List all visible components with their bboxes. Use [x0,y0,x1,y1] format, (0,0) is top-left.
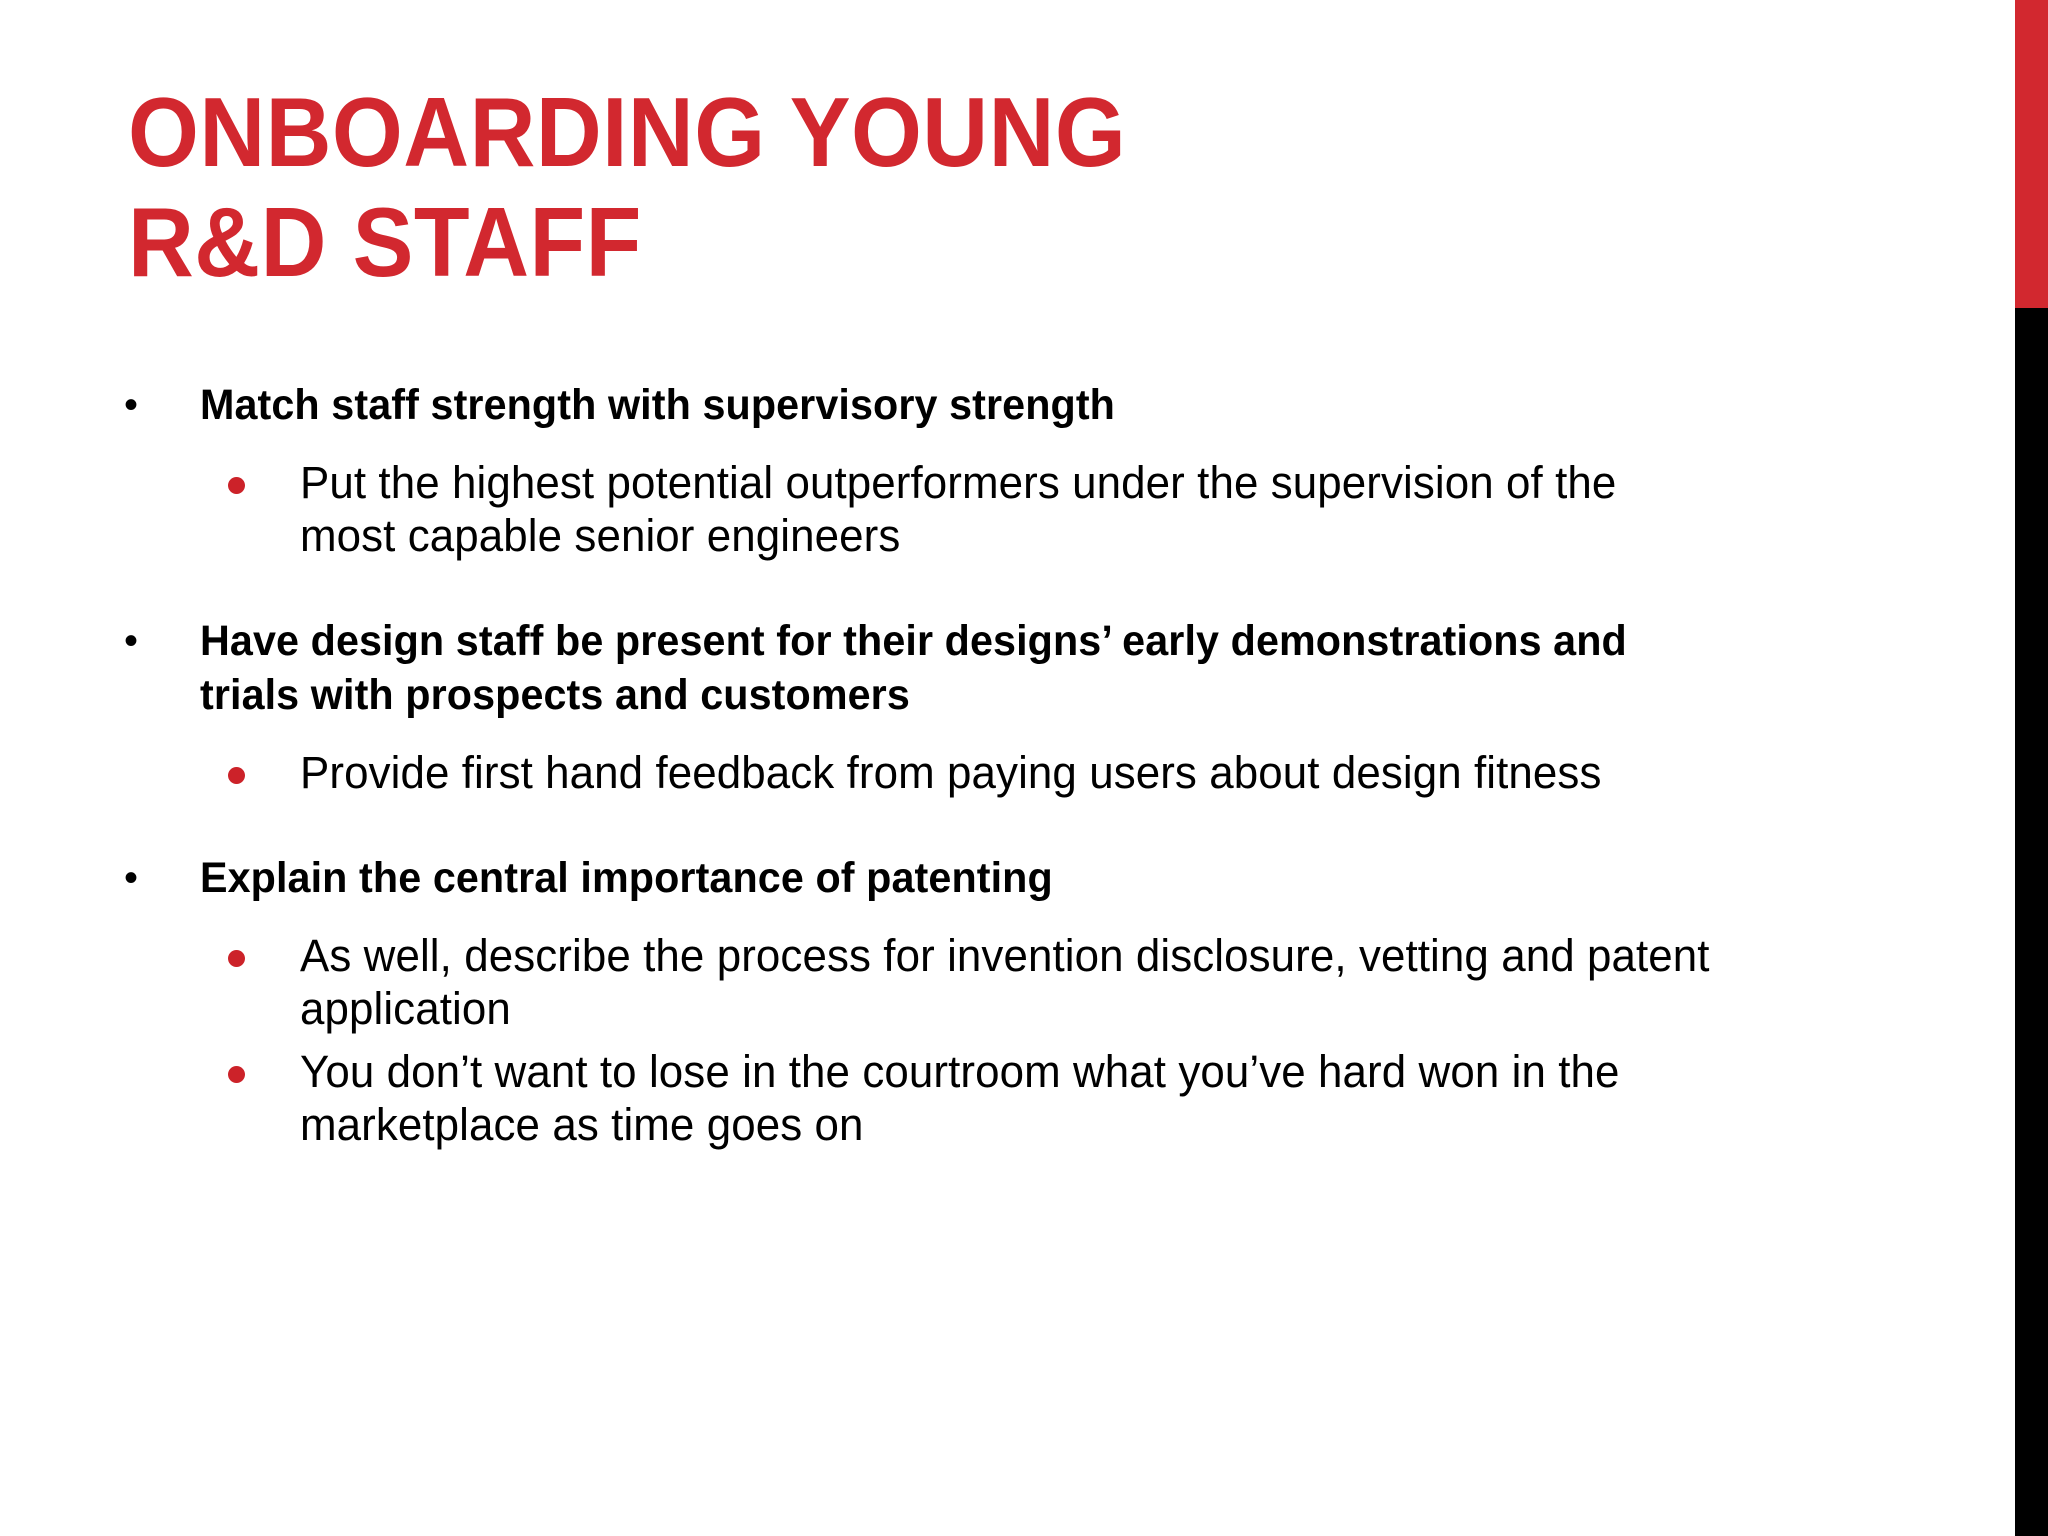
bullet-level2-label: Put the highest potential outperformers … [300,456,1714,562]
right-edge-bar-black [2015,308,2048,1536]
bullet-level2: As well, describe the process for invent… [0,929,2015,1035]
bullet-level1: • Match staff strength with supervisory … [0,378,2015,432]
sub-bullet-dot-icon [228,1066,245,1083]
bullet-dot-icon: • [124,851,138,905]
sub-bullet-dot-icon [228,950,245,967]
bullet-group: • Have design staff be present for their… [0,614,2015,799]
slide-title: ONBOARDING YOUNG R&D STAFF [128,78,1608,298]
bullet-level1-label: Explain the central importance of patent… [200,851,1702,905]
bullet-level2: You don’t want to lose in the courtroom … [0,1045,2015,1151]
slide-body: • Match staff strength with supervisory … [0,378,2015,1151]
bullet-dot-icon: • [124,378,138,432]
sub-bullet-dot-icon [228,477,245,494]
slide-canvas: ONBOARDING YOUNG R&D STAFF • Match staff… [0,0,2048,1536]
bullet-level2-label: You don’t want to lose in the courtroom … [300,1045,1714,1151]
bullet-level1: • Explain the central importance of pate… [0,851,2015,905]
bullet-group: • Match staff strength with supervisory … [0,378,2015,562]
sub-bullet-dot-icon [228,767,245,784]
bullet-level1-label: Have design staff be present for their d… [200,614,1702,722]
slide-title-line-2: R&D STAFF [128,188,1504,298]
bullet-level2-label: As well, describe the process for invent… [300,929,1714,1035]
bullet-level1-label: Match staff strength with supervisory st… [200,378,1702,432]
right-edge-bar-red [2015,0,2048,308]
bullet-level1: • Have design staff be present for their… [0,614,2015,722]
slide-title-line-1: ONBOARDING YOUNG [128,78,1504,188]
bullet-group: • Explain the central importance of pate… [0,851,2015,1151]
bullet-level2: Provide first hand feedback from paying … [0,746,2015,799]
bullet-dot-icon: • [124,614,138,668]
bullet-level2: Put the highest potential outperformers … [0,456,2015,562]
bullet-level2-label: Provide first hand feedback from paying … [300,746,1714,799]
